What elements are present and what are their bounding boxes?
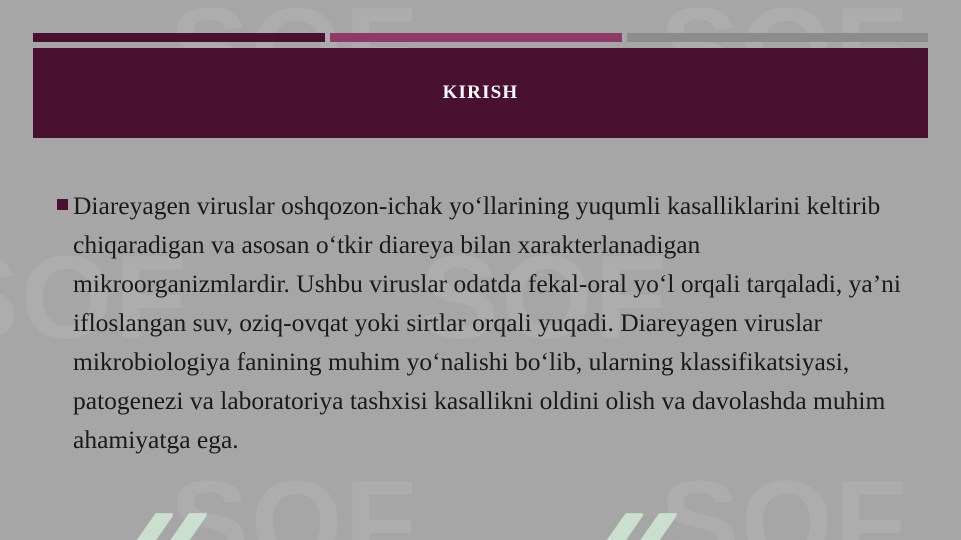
top-bar-segment-dark [33, 33, 325, 42]
slide: KIRISH Diareyagen viruslar oshqozon-icha… [0, 0, 961, 540]
page-title: KIRISH [443, 82, 519, 104]
top-bar-segment-mid [330, 33, 622, 42]
slide-body: Diareyagen viruslar oshqozon-ichak yo‘ll… [57, 186, 913, 459]
bullet-square-icon [57, 199, 68, 210]
slide-title-band: KIRISH [33, 48, 928, 138]
list-item: Diareyagen viruslar oshqozon-ichak yo‘ll… [57, 186, 913, 459]
decorative-top-bars [33, 33, 928, 42]
bullet-text: Diareyagen viruslar oshqozon-ichak yo‘ll… [73, 186, 913, 459]
top-bar-segment-gray [627, 33, 928, 42]
